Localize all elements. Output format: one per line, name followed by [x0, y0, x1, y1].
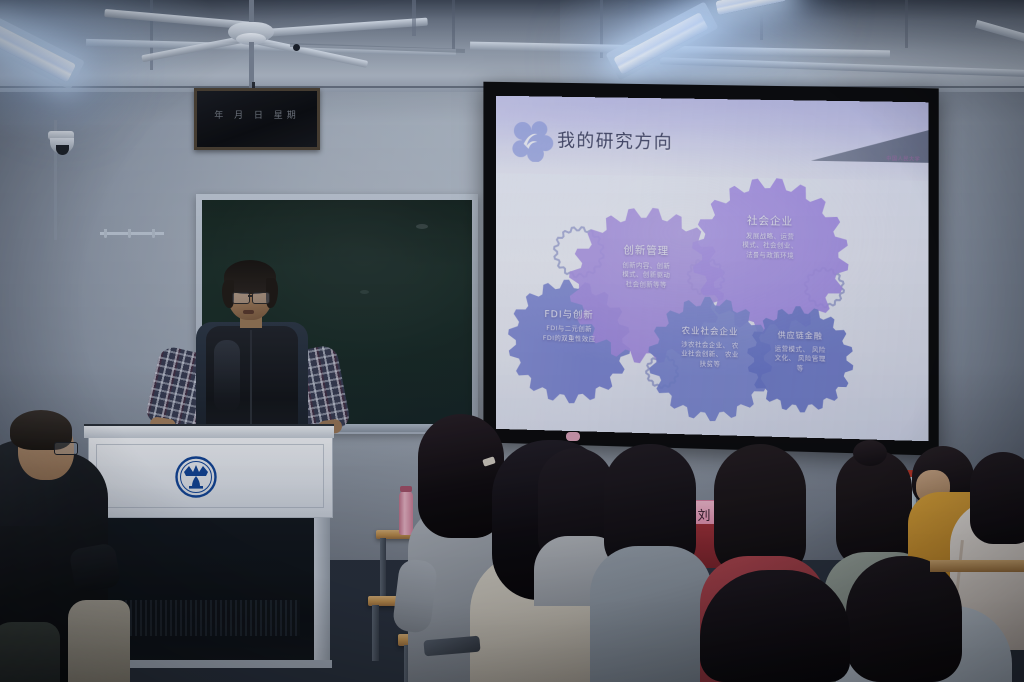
audience-bun-hair	[836, 450, 912, 568]
name-card-text: 刘	[697, 505, 710, 524]
ceiling-panel-gap	[452, 0, 455, 52]
gear-supply-chain-finance	[747, 305, 853, 414]
university-emblem-icon	[175, 456, 217, 498]
desk	[930, 560, 1024, 572]
glasses-icon	[232, 292, 250, 304]
date-board-text: 年 月 日 星期	[197, 108, 317, 121]
chalk-mark	[416, 224, 428, 229]
ceiling-pipe	[412, 0, 416, 36]
slide-brandmark: 中国人民大学	[886, 155, 920, 163]
audience-center-right-body	[590, 546, 712, 682]
audience-left-man-arm	[69, 542, 122, 593]
presenter-vest-zipper	[250, 330, 252, 426]
chalk-mark	[360, 290, 369, 294]
audience-front-center-hair	[700, 570, 850, 682]
gear-diagram: FDI与创新FDI与二元创新FDI的双重性效应创新管理创新内容、创新模式、创新驱…	[496, 173, 928, 441]
slide-title: 我的研究方向	[557, 126, 673, 154]
bottle-cap	[400, 486, 412, 492]
audience-blue-hoodie-hair	[846, 556, 962, 682]
desk-leg	[372, 605, 379, 661]
wall-hook-icon	[128, 229, 131, 238]
glasses-icon	[54, 442, 78, 455]
podium-top	[84, 424, 334, 438]
conduit-fitting	[293, 44, 300, 51]
ceiling-panel-gap	[905, 0, 908, 48]
presenter-vest-highlight	[214, 340, 240, 412]
hair-bun-icon	[853, 440, 887, 466]
glasses-icon	[252, 292, 270, 304]
wall-hook-icon	[152, 229, 155, 238]
gear-svg	[496, 173, 928, 441]
projection-screen: 中国人民大学 我的研究方向 FDI与创新FDI与二元创新FDI的双重性效应创新管…	[496, 96, 928, 441]
podium-side-panel	[314, 516, 330, 666]
podium-vent	[110, 600, 300, 636]
date-board: 年 月 日 星期	[194, 88, 320, 150]
wall-hook-icon	[104, 229, 107, 238]
presenter-mouth	[243, 310, 254, 314]
hair-tie-icon	[566, 432, 580, 441]
flower-logo-icon	[510, 118, 553, 162]
audience-left-man-bag	[68, 600, 130, 682]
glasses-bridge	[248, 295, 252, 297]
desk-leg	[380, 538, 386, 598]
water-bottle	[399, 491, 413, 535]
classroom-photo: 年 月 日 星期 中国人民大学 我的研究方向	[0, 0, 1024, 682]
audience-white-hoodie-hair	[970, 452, 1024, 544]
audience-left-lower	[0, 622, 60, 682]
